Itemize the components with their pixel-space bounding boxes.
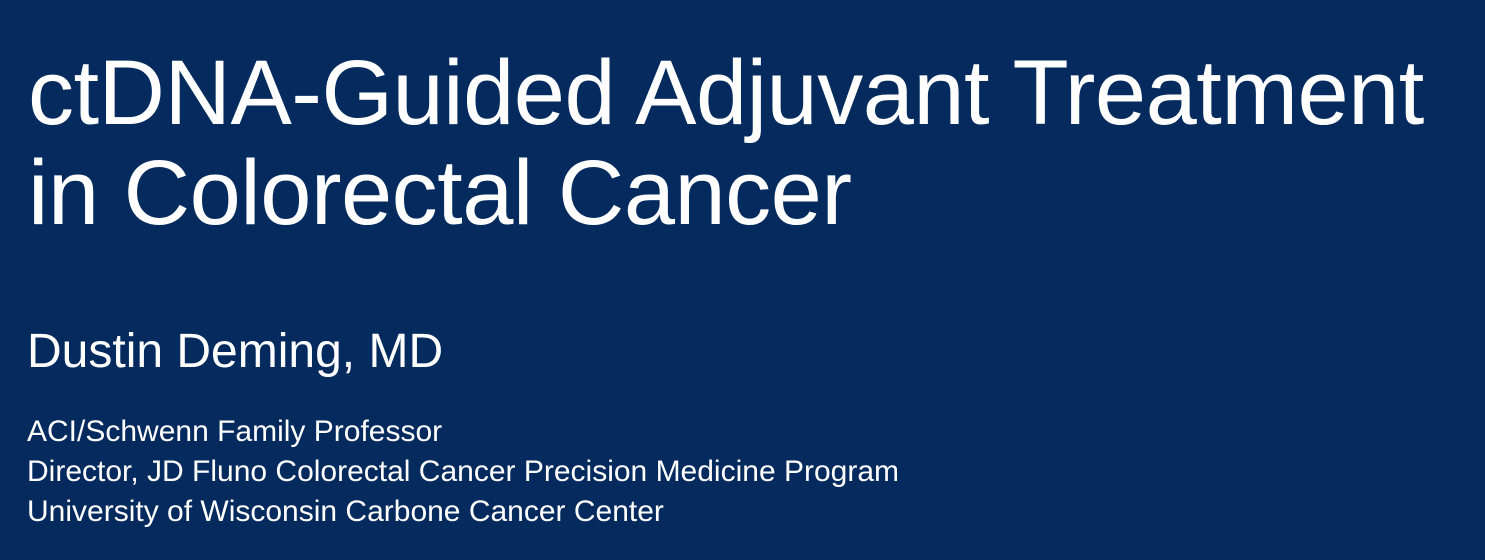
title-line-1: ctDNA-Guided Adjuvant Treatment bbox=[28, 43, 1458, 143]
affiliation-block: ACI/Schwenn Family Professor Director, J… bbox=[27, 412, 1227, 532]
title-line-2: in Colorectal Cancer bbox=[28, 143, 1458, 243]
affiliation-line-1: ACI/Schwenn Family Professor bbox=[27, 412, 1227, 452]
title-slide: ctDNA-Guided Adjuvant Treatment in Color… bbox=[0, 0, 1485, 560]
affiliation-line-3: University of Wisconsin Carbone Cancer C… bbox=[27, 492, 1227, 532]
presenter-name: Dustin Deming, MD bbox=[27, 325, 443, 379]
slide-title: ctDNA-Guided Adjuvant Treatment in Color… bbox=[28, 43, 1458, 243]
affiliation-line-2: Director, JD Fluno Colorectal Cancer Pre… bbox=[27, 452, 1227, 492]
